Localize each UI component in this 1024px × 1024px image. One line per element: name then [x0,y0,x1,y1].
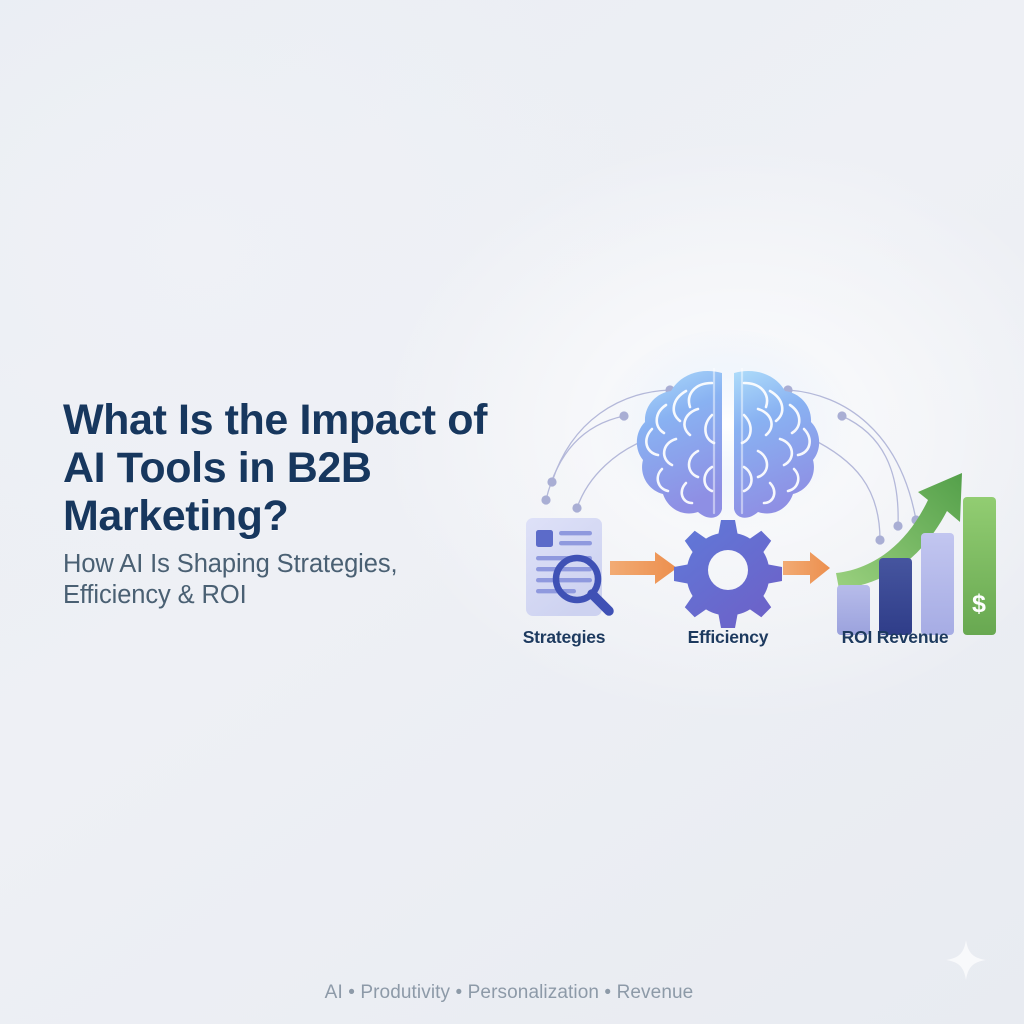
flow-arrow-1 [610,552,677,584]
brain-glow [598,330,858,540]
stage-label-efficiency: Efficiency [688,627,769,648]
footer-tagline: AI • Produtivity • Personalization • Rev… [0,982,1024,1004]
footer-tagline-text: AI • Produtivity • Personalization • Rev… [325,982,694,1004]
bar-2 [879,558,912,635]
gear-icon [674,520,782,628]
bar-3 [921,533,954,635]
flow-arrow-2 [783,552,830,584]
page-subtitle: How AI Is Shaping Strategies, Efficiency… [63,549,493,611]
process-flow-diagram: $ [500,340,1024,660]
stage-label-strategies: Strategies [523,627,606,648]
dollar-badge: $ [972,590,986,618]
bar-chart-growth-icon: $ [836,473,996,635]
page-title: What Is the Impact of AI Tools in B2B Ma… [63,396,493,540]
poster-canvas: What Is the Impact of AI Tools in B2B Ma… [0,0,1024,1024]
headline-block: What Is the Impact of AI Tools in B2B Ma… [63,396,493,611]
sparkle-icon [944,938,988,982]
stage-label-roi-revenue: ROI Revenue [842,627,949,648]
document-search-icon [526,518,609,616]
